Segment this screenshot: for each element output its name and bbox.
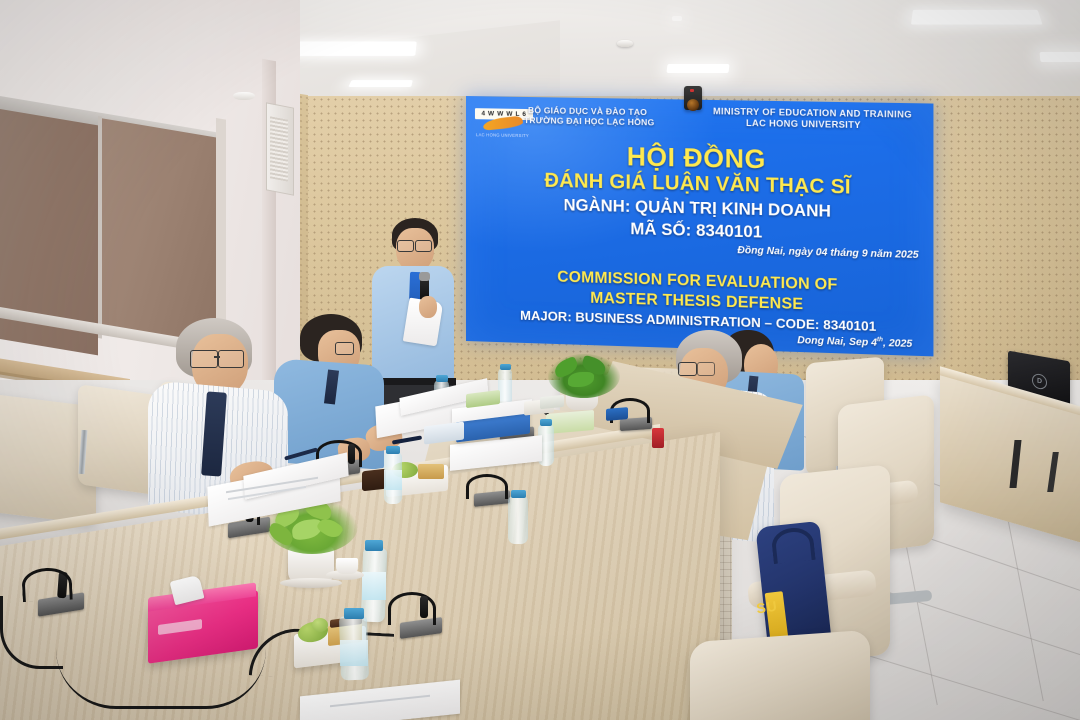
person-hand	[419, 296, 437, 318]
bottle-cap	[540, 419, 552, 426]
office-chair-foreground[interactable]	[690, 630, 870, 720]
eyeglasses-icon	[415, 240, 432, 252]
bottle-label	[340, 640, 368, 666]
ceiling-led-panel	[284, 42, 416, 56]
grape	[312, 618, 328, 632]
bottle-cap	[344, 608, 364, 619]
bottle-cap	[386, 446, 400, 454]
eyeglasses-icon	[397, 240, 414, 252]
bottle-cap	[436, 375, 448, 382]
projection-screen: 4 W W W L 6 LAC HONG UNIVERSITY BỘ GIÁO …	[466, 96, 933, 356]
cup[interactable]	[336, 558, 358, 574]
ceiling-led-panel	[911, 10, 1043, 25]
gooseneck-arm	[388, 592, 436, 625]
water-bottle[interactable]	[498, 368, 512, 406]
screen-header-left-line2: TRƯỜNG ĐẠI HỌC LẠC HỒNG	[524, 115, 655, 127]
window-frame	[216, 118, 226, 330]
ceiling-led-panel	[672, 16, 682, 21]
smoke-detector-icon	[617, 40, 633, 47]
wall-light-icon	[233, 92, 255, 100]
screen-header-right-line2: LAC HONG UNIVERSITY	[746, 118, 861, 130]
bottle-label	[362, 572, 386, 600]
screen-date-en-prefix: Dong Nai, Sep 4	[797, 335, 877, 349]
tissue-pack	[540, 395, 564, 410]
screen-header-right-line1: MINISTRY OF EDUCATION AND TRAINING	[713, 106, 912, 120]
screen-date-en: Dong Nai, Sep 4th, 2025	[797, 335, 912, 350]
bottle-cap	[365, 540, 383, 551]
bottle-cap	[511, 490, 526, 498]
plant-saucer	[280, 578, 342, 588]
gooseneck-microphone[interactable]	[348, 444, 355, 464]
logo-subtext: LAC HONG UNIVERSITY	[476, 132, 529, 138]
blue-object	[606, 407, 628, 421]
screen-date-en-suffix: , 2025	[883, 338, 912, 350]
microphone-grille-icon	[419, 272, 430, 281]
cake-slice	[418, 464, 444, 479]
bottle-label	[384, 470, 402, 490]
eyeglasses-icon	[190, 350, 218, 368]
conference-room-photo: 4 W W W L 6 LAC HONG UNIVERSITY BỘ GIÁO …	[0, 0, 1080, 720]
gooseneck-microphone[interactable]	[420, 596, 428, 618]
ceiling-led-panel	[1039, 52, 1080, 62]
eyeglasses-icon	[697, 362, 715, 376]
screen-date-vn: Đồng Nai, ngày 04 tháng 9 năm 2025	[737, 245, 918, 261]
chocolate-cake	[362, 469, 386, 492]
eyeglasses-icon	[335, 342, 354, 355]
wall-air-conditioner-grill	[270, 116, 288, 181]
eyeglasses-bridge-icon	[214, 356, 220, 358]
roller-blind-divider	[98, 116, 102, 339]
backpack-logo-text: SU	[753, 594, 782, 619]
bottle-cap	[500, 364, 511, 370]
ceiling-led-panel	[666, 64, 729, 73]
camera-lens-icon	[687, 99, 699, 111]
camera-led-icon	[690, 89, 694, 92]
marker-pen[interactable]	[652, 428, 664, 448]
water-bottle[interactable]	[508, 496, 528, 544]
eyeglasses-icon	[218, 350, 244, 368]
gooseneck-arm	[466, 474, 508, 499]
ceiling-led-panel	[348, 80, 413, 87]
eyeglasses-icon	[678, 362, 697, 376]
